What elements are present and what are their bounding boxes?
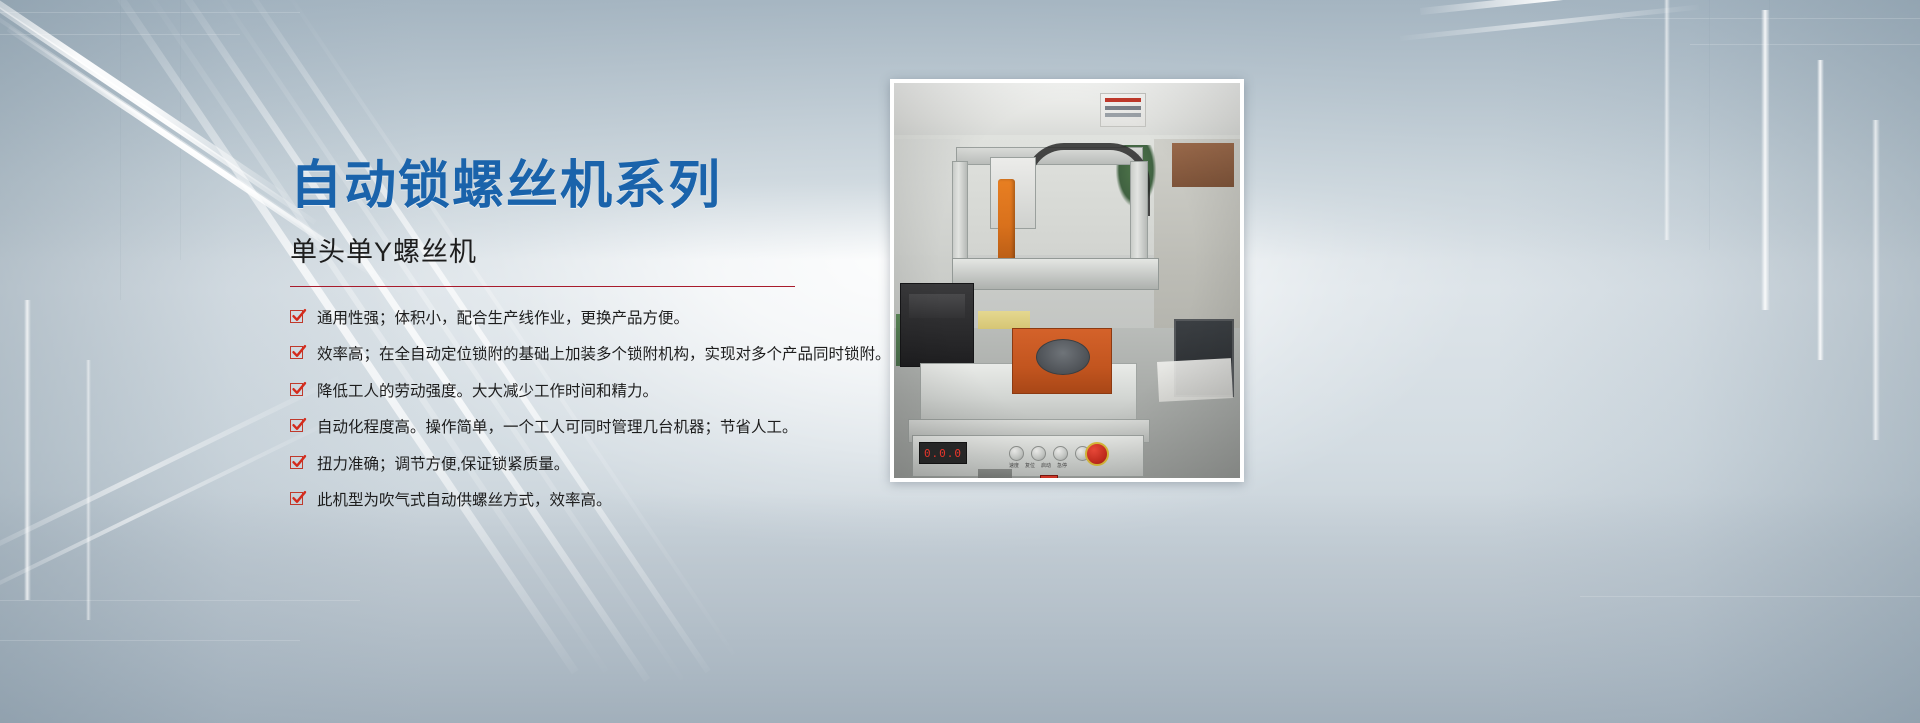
machine-screwdriver <box>998 179 1015 263</box>
machine-knob <box>1053 446 1068 461</box>
machine-display: 0.0.0 <box>919 442 967 464</box>
machine-display-value: 0.0.0 <box>924 447 962 460</box>
workshop-ceiling <box>894 83 1240 141</box>
workshop-papers <box>1157 358 1233 402</box>
machine-gantry-beam <box>952 258 1159 290</box>
machine-knob <box>1009 446 1024 461</box>
check-icon <box>290 492 303 505</box>
machine-foot <box>978 469 1012 482</box>
list-item: 通用性强；体积小，配合生产线作业，更换产品方便。 <box>290 309 910 328</box>
machine-feeder-unit <box>900 283 974 367</box>
machine-knob <box>1031 446 1046 461</box>
machine-panel-label: 急停 <box>1057 462 1067 472</box>
machine-panel-label: 启动 <box>1041 462 1051 472</box>
feature-list: 通用性强；体积小，配合生产线作业，更换产品方便。 效率高；在全自动定位锁附的基础… <box>290 309 910 510</box>
workshop-carton <box>1172 143 1234 187</box>
list-item-label: 扭力准确；调节方便,保证锁紧质量。 <box>317 456 569 473</box>
check-icon <box>290 419 303 432</box>
banner-content: 自动锁螺丝机系列 单头单Y螺丝机 通用性强；体积小，配合生产线作业，更换产品方便… <box>290 160 910 510</box>
machine-power-switch <box>1040 475 1058 482</box>
workshop-wall-sign <box>1100 93 1146 127</box>
check-icon <box>290 456 303 469</box>
machine-panel-label: 复位 <box>1025 462 1035 472</box>
list-item: 降低工人的劳动强度。大大减少工作时间和精力。 <box>290 382 910 401</box>
list-item: 自动化程度高。操作简单，一个工人可同时管理几台机器；节省人工。 <box>290 418 910 437</box>
page-subtitle: 单头单Y螺丝机 <box>290 230 910 269</box>
list-item-label: 此机型为吹气式自动供螺丝方式，效率高。 <box>317 492 612 509</box>
check-icon <box>290 310 303 323</box>
list-item: 此机型为吹气式自动供螺丝方式，效率高。 <box>290 491 910 510</box>
check-icon <box>290 383 303 396</box>
product-photo-scene: 0.0.0 速度 复位 启动 急停 <box>894 83 1240 478</box>
list-item-label: 效率高；在全自动定位锁附的基础上加装多个锁附机构，实现对多个产品同时锁附。 <box>317 346 891 363</box>
product-photo: 0.0.0 速度 复位 启动 急停 <box>890 79 1244 482</box>
machine-control-panel: 0.0.0 速度 复位 启动 急停 <box>912 435 1144 477</box>
list-item-label: 降低工人的劳动强度。大大减少工作时间和精力。 <box>317 383 658 400</box>
list-item-label: 自动化程度高。操作简单，一个工人可同时管理几台机器；节省人工。 <box>317 419 798 436</box>
title-divider <box>290 286 795 287</box>
list-item-label: 通用性强；体积小，配合生产线作业，更换产品方便。 <box>317 310 689 327</box>
machine-workpiece <box>1036 339 1090 375</box>
machine-panel-labels: 速度 复位 启动 急停 <box>1009 462 1141 472</box>
machine-knob-row <box>1009 444 1139 462</box>
list-item: 扭力准确；调节方便,保证锁紧质量。 <box>290 455 910 474</box>
machine-work-part <box>978 311 1030 329</box>
check-icon <box>290 346 303 359</box>
list-item: 效率高；在全自动定位锁附的基础上加装多个锁附机构，实现对多个产品同时锁附。 <box>290 345 910 364</box>
product-banner: 自动锁螺丝机系列 单头单Y螺丝机 通用性强；体积小，配合生产线作业，更换产品方便… <box>0 0 1920 723</box>
page-title: 自动锁螺丝机系列 <box>290 160 910 212</box>
